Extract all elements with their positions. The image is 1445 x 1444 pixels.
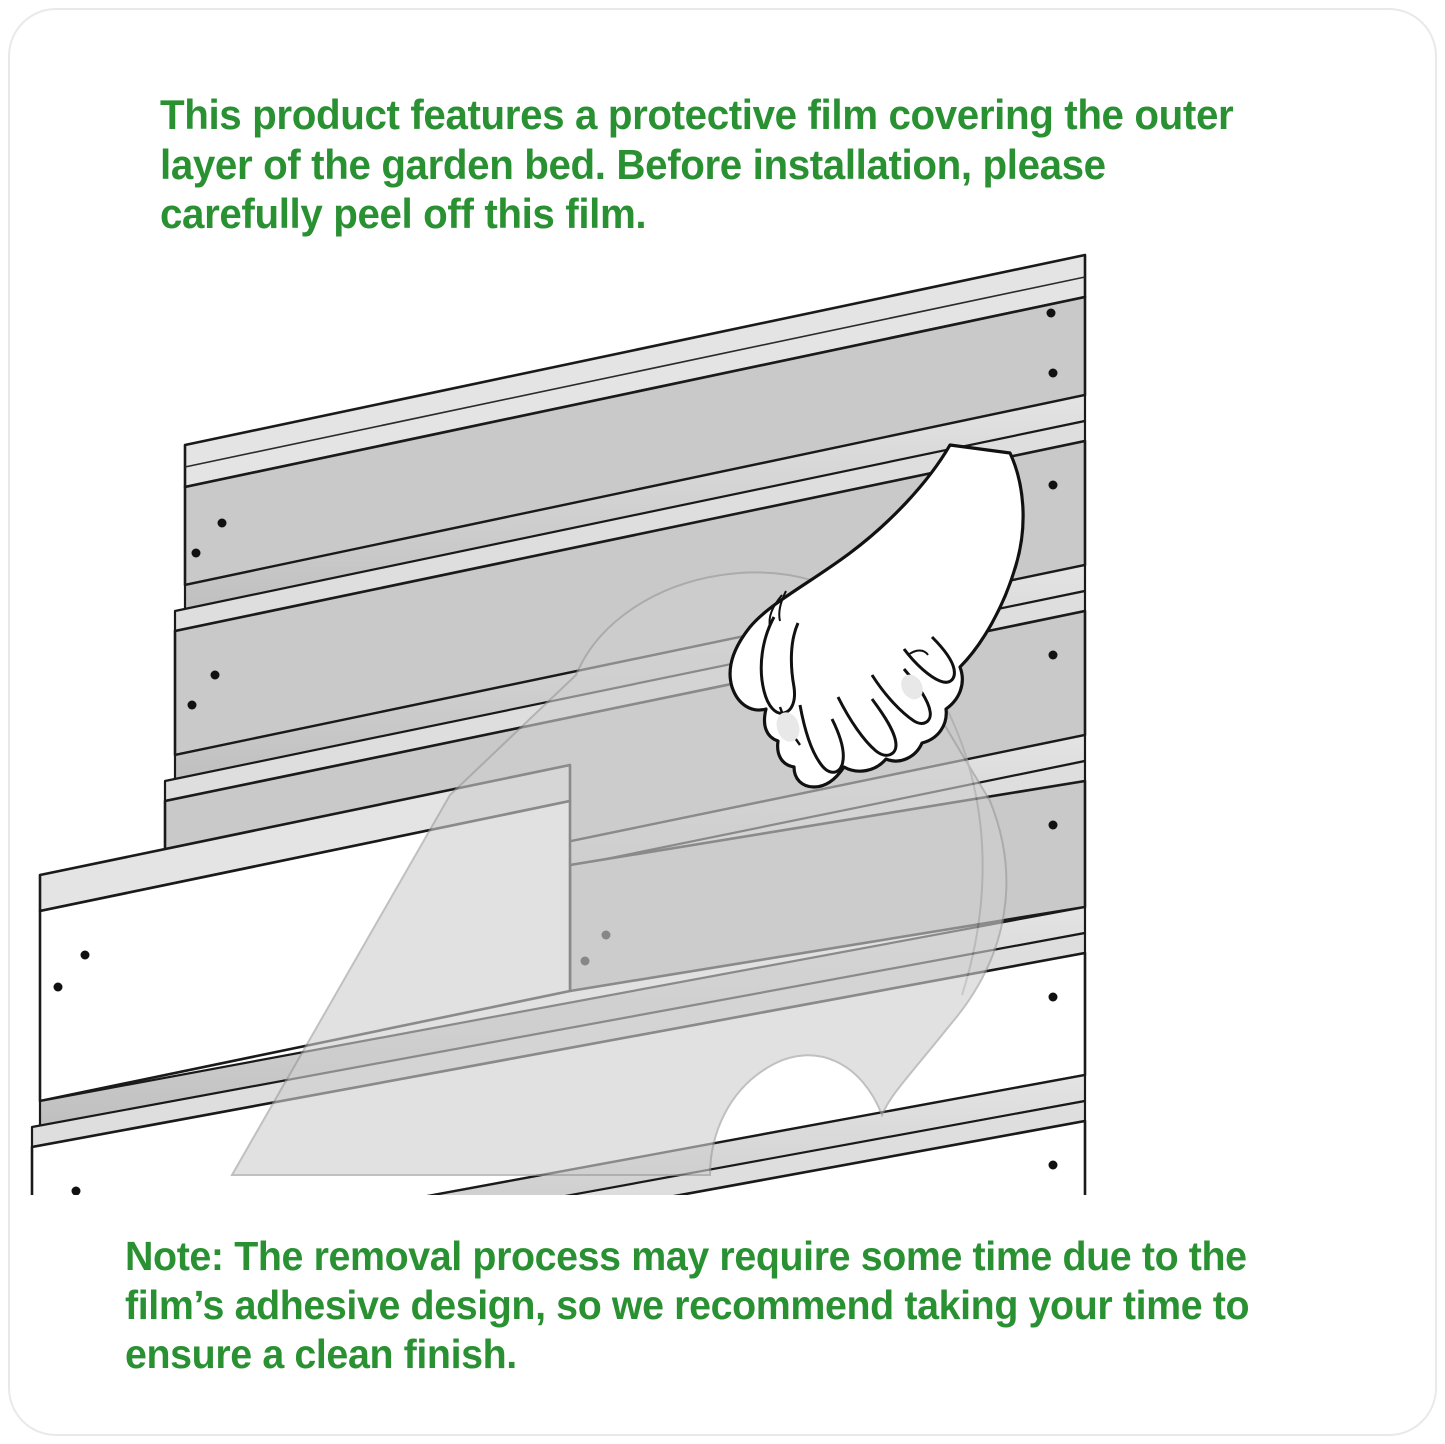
page-root: This product features a protective film … xyxy=(0,0,1445,1444)
instruction-card: This product features a protective film … xyxy=(8,8,1437,1436)
page-title: This product features a protective film … xyxy=(160,90,1274,239)
garden-bed-film-peel-illustration xyxy=(10,235,1445,1195)
note-text: Note: The removal process may require so… xyxy=(125,1232,1306,1380)
